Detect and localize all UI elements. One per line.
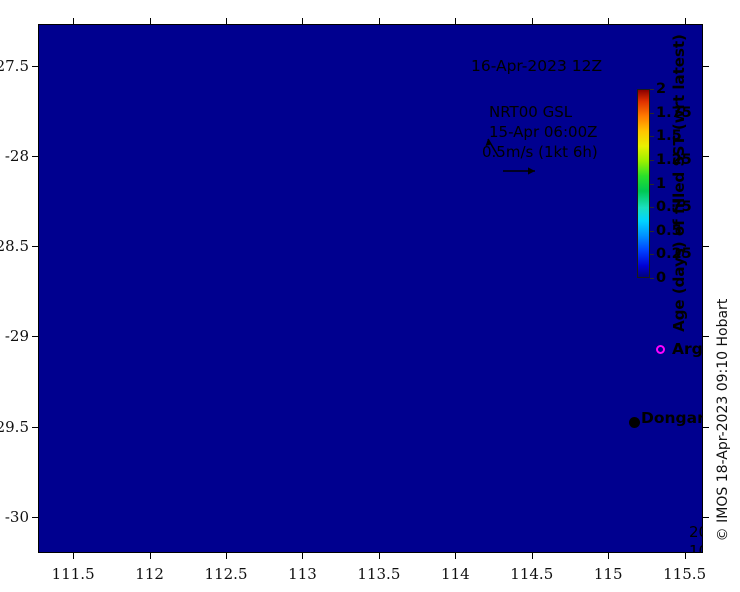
x-axis-tick — [73, 18, 74, 24]
bathymetry-200m-label: 200m — [689, 523, 703, 541]
x-axis-tick — [455, 18, 456, 24]
x-axis-tick — [532, 18, 533, 24]
source-product-label: NRT00 GSL — [489, 103, 572, 121]
colorbar-tick-label: 0.5 — [656, 223, 682, 239]
colorbar-tick — [650, 184, 654, 185]
y-axis-tick — [32, 66, 38, 67]
colorbar-tick — [650, 254, 654, 255]
x-axis-tick — [455, 553, 456, 559]
vector-scale-arrow-icon — [499, 161, 559, 183]
colorbar-tick — [650, 160, 654, 161]
colorbar-tick — [650, 231, 654, 232]
x-axis-tick — [685, 18, 686, 24]
y-axis-tick — [703, 246, 709, 247]
y-axis-label: -30 — [5, 508, 29, 526]
x-axis-tick — [532, 553, 533, 559]
y-axis-label: -27.5 — [0, 57, 29, 75]
y-axis-tick — [32, 246, 38, 247]
x-axis-tick — [608, 553, 609, 559]
x-axis-tick — [150, 18, 151, 24]
argo-marker-icon[interactable] — [656, 345, 665, 354]
colorbar-tick-label: 0.75 — [656, 199, 692, 215]
land-and-coastline — [39, 25, 702, 552]
x-axis-label: 114.5 — [510, 565, 553, 583]
colorbar-tick — [650, 113, 654, 114]
colorbar-tick — [650, 136, 654, 137]
colorbar-tick — [650, 207, 654, 208]
colorbar — [637, 89, 650, 278]
y-axis-tick — [32, 336, 38, 337]
y-axis-tick — [32, 156, 38, 157]
dongara-place-label: Dongara — [641, 409, 703, 427]
bathymetry-1000m-label: 1000m — [689, 542, 703, 553]
x-axis-tick — [608, 18, 609, 24]
x-axis-label: 115 — [594, 565, 623, 583]
x-axis-label: 113.5 — [357, 565, 400, 583]
vector-scale-tick-icon — [482, 137, 508, 167]
x-axis-tick — [685, 553, 686, 559]
x-axis-tick — [379, 18, 380, 24]
x-axis-tick — [150, 553, 151, 559]
y-axis-label: -29.5 — [0, 418, 29, 436]
copyright-credit: © IMOS 18-Apr-2023 09:10 Hobart — [715, 299, 731, 542]
x-axis-tick — [379, 553, 380, 559]
y-axis-label: -28 — [5, 147, 29, 165]
map-plot-area[interactable]: 16-Apr-2023 12Z NRT00 GSL 15-Apr 06:00Z … — [38, 24, 703, 553]
y-axis-tick — [32, 427, 38, 428]
colorbar-tick-label: 0.25 — [656, 246, 692, 262]
colorbar-tick-label: 1 — [656, 176, 666, 192]
x-axis-tick — [226, 18, 227, 24]
x-axis-label: 112 — [135, 565, 164, 583]
dongara-marker-icon[interactable] — [629, 417, 640, 428]
x-axis-tick — [302, 553, 303, 559]
ocean-current-map-figure: 16-Apr-2023 12Z NRT00 GSL 15-Apr 06:00Z … — [0, 0, 740, 592]
colorbar-tick — [650, 278, 654, 279]
x-axis-label: 115.5 — [663, 565, 706, 583]
x-axis-tick — [302, 18, 303, 24]
colorbar-title: Age (days) of filled SST (wrt latest) — [670, 34, 688, 332]
y-axis-label: -29 — [5, 327, 29, 345]
y-axis-tick — [703, 336, 709, 337]
colorbar-tick-label: 1.75 — [656, 105, 692, 121]
date-stamp: 16-Apr-2023 12Z — [471, 57, 602, 75]
y-axis-tick — [32, 517, 38, 518]
y-axis-tick — [703, 66, 709, 67]
colorbar-tick-label: 0 — [656, 270, 666, 286]
y-axis-label: -28.5 — [0, 237, 29, 255]
y-axis-tick — [703, 427, 709, 428]
y-axis-tick — [703, 156, 709, 157]
x-axis-label: 114 — [441, 565, 470, 583]
x-axis-label: 111.5 — [52, 565, 95, 583]
colorbar-tick-label: 1.5 — [656, 128, 682, 144]
colorbar-tick — [650, 89, 654, 90]
x-axis-label: 113 — [288, 565, 317, 583]
colorbar-tick-label: 1.25 — [656, 152, 692, 168]
x-axis-tick — [73, 553, 74, 559]
y-axis-tick — [703, 517, 709, 518]
x-axis-tick — [226, 553, 227, 559]
colorbar-tick-label: 2 — [656, 81, 666, 97]
x-axis-label: 112.5 — [205, 565, 248, 583]
argo-legend-label: Argo — [672, 340, 703, 358]
